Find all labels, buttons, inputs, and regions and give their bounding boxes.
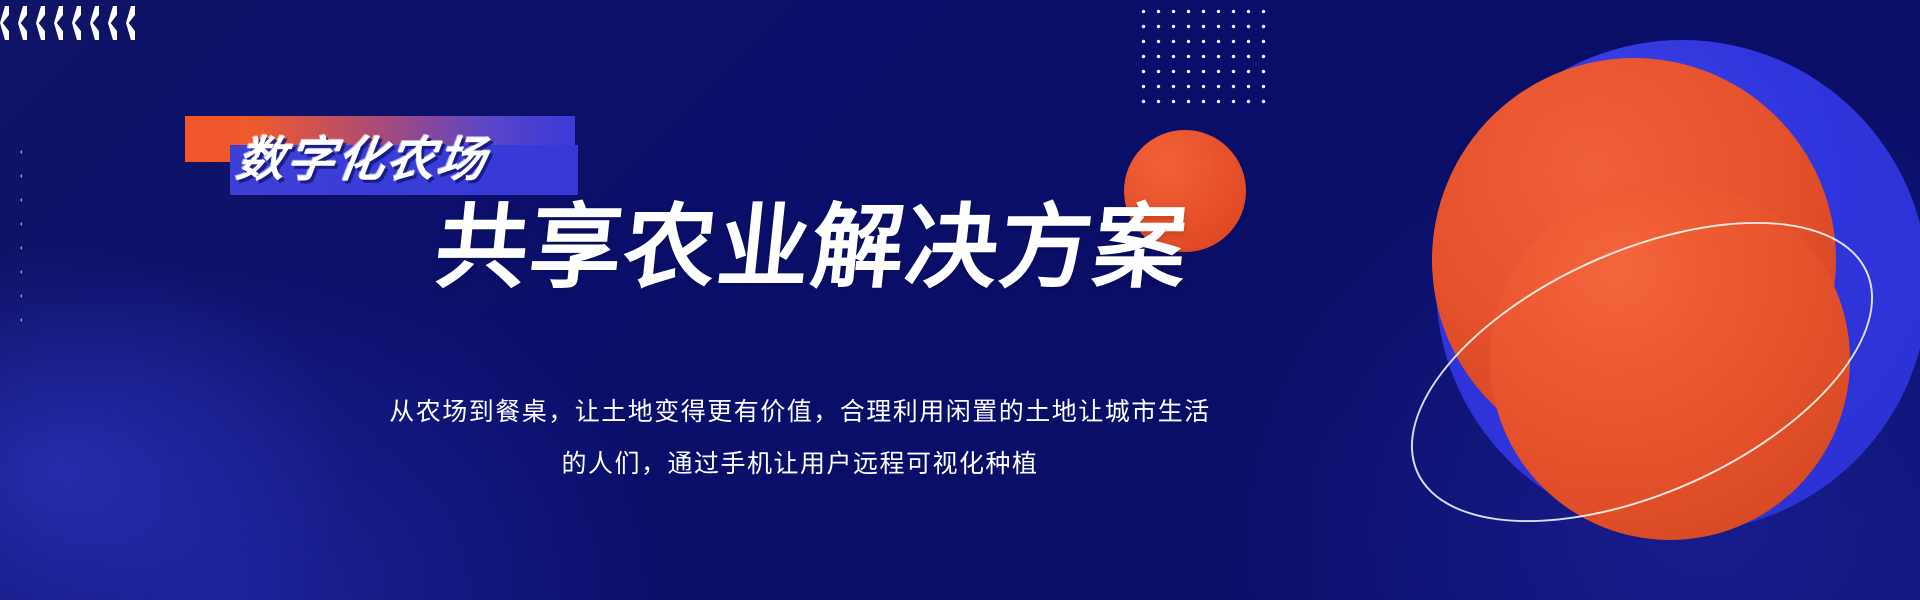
chevron-left-icon [108,6,117,40]
subtitle-line-2: 的人们，通过手机让用户远程可视化种植 [300,438,1300,490]
chevron-left-icon [36,6,45,40]
chevron-left-icon [18,6,27,40]
chevron-left-icon [54,6,63,40]
chevron-left-icon [90,6,99,40]
subtitle: 从农场到餐桌，让土地变得更有价值，合理利用闲置的土地让城市生活 的人们，通过手机… [300,386,1300,490]
chevron-left-icon [126,6,135,40]
chevron-left-icon [0,6,9,40]
subtitle-line-1: 从农场到餐桌，让土地变得更有价值，合理利用闲置的土地让城市生活 [300,386,1300,438]
tag-label: 数字化农场 [233,130,582,192]
vertical-dot-strip-icon [16,140,22,330]
dot-grid-icon [1136,4,1270,110]
chevron-left-icon [72,6,81,40]
tag-badge: 数字化农场 [185,116,605,202]
page-title: 共享农业解决方案 [431,196,1194,300]
chevron-left-group [0,0,162,46]
hero-banner: 数字化农场 共享农业解决方案 从农场到餐桌，让土地变得更有价值，合理利用闲置的土… [0,0,1920,600]
